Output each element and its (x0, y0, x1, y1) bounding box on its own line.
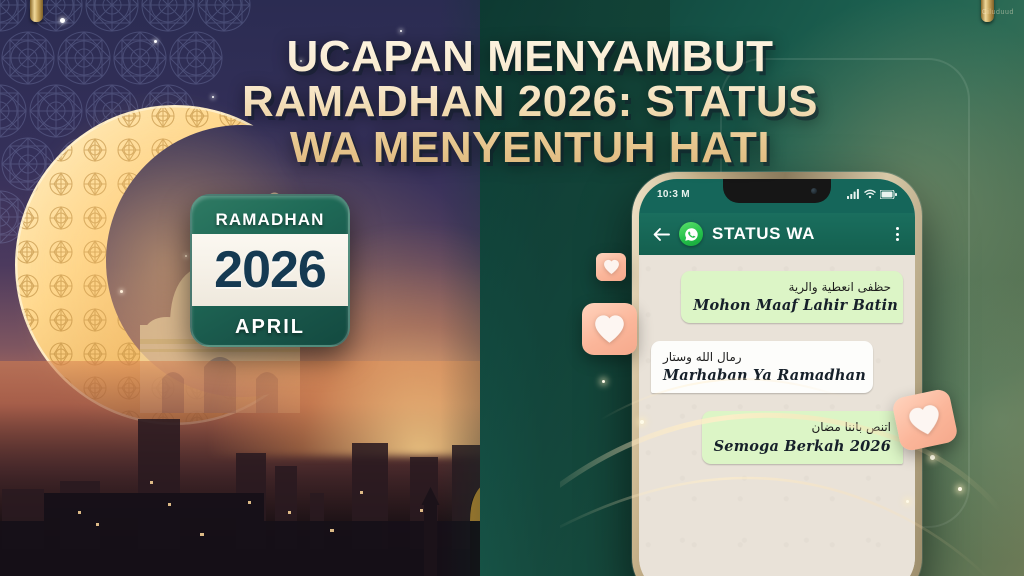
heart-sticker-top-left (596, 253, 626, 281)
chat-thread: حظفى انعطية والرية Mohon Maaf Lahir Bati… (639, 255, 915, 576)
calendar-month-label: RAMADHAN (216, 210, 325, 230)
sparkle (602, 380, 605, 383)
phone-notch (723, 179, 831, 203)
message-latin: Semoga Berkah 2026 (714, 438, 891, 455)
status-bar-time: 10:3 M (657, 189, 690, 200)
watermark: Ciluduud (982, 9, 1014, 16)
whatsapp-app-bar: STATUS WA (639, 213, 915, 255)
status-bar: 10:3 M (639, 179, 915, 213)
message-arabic: رمال الله وستار (663, 349, 861, 365)
whatsapp-logo-icon (679, 222, 703, 246)
calendar-month-band: RAMADHAN (192, 196, 348, 234)
message-bubble[interactable]: رمال الله وستار Marhaban Ya Ramadhan (651, 341, 873, 393)
message-row: حظفى انعطية والرية Mohon Maaf Lahir Bati… (651, 271, 903, 323)
battery-icon (880, 190, 897, 199)
sparkle (906, 500, 909, 503)
calendar-footer-band: APRIL (192, 306, 348, 347)
phone-mockup: 10:3 M (632, 172, 922, 576)
calendar-ring-left (30, 0, 43, 22)
wifi-icon (864, 189, 876, 199)
calendar-year-band: 2026 (192, 234, 348, 306)
message-row: رمال الله وستار Marhaban Ya Ramadhan (651, 341, 903, 393)
message-row: اتنص باننا مضان Semoga Berkah 2026 (651, 411, 903, 463)
front-camera-icon (811, 188, 817, 194)
page-title: UCAPAN MENYAMBUT RAMADHAN 2026: STATUS W… (180, 34, 880, 170)
app-bar-title: STATUS WA (712, 224, 885, 244)
title-line-2: RAMADHAN 2026: STATUS (180, 79, 880, 124)
ramadhan-calendar: RAMADHAN 2026 APRIL (190, 194, 350, 347)
message-arabic: حظفى انعطية والرية (693, 279, 891, 295)
sparkle (640, 420, 644, 424)
calendar-year: 2026 (214, 240, 326, 300)
heart-sticker-left (582, 303, 637, 355)
message-arabic: اتنص باننا مضان (714, 419, 891, 435)
sparkle (930, 455, 935, 460)
message-bubble[interactable]: اتنص باننا مضان Semoga Berkah 2026 (702, 411, 903, 463)
overflow-menu-icon[interactable] (894, 225, 901, 243)
back-arrow-icon[interactable] (653, 227, 670, 242)
message-latin: Mohon Maaf Lahir Batin (693, 297, 891, 314)
poster-canvas: UCAPAN MENYAMBUT RAMADHAN 2026: STATUS W… (0, 0, 1024, 576)
sparkle (958, 487, 962, 491)
message-latin: Marhaban Ya Ramadhan (663, 367, 861, 384)
phone-screen: 10:3 M (639, 179, 915, 576)
calendar-footer-label: APRIL (235, 316, 305, 339)
signal-bars-icon (847, 189, 860, 199)
title-line-1: UCAPAN MENYAMBUT (180, 34, 880, 79)
title-line-3: WA MENYENTUH HATI (180, 125, 880, 170)
message-bubble[interactable]: حظفى انعطية والرية Mohon Maaf Lahir Bati… (681, 271, 903, 323)
